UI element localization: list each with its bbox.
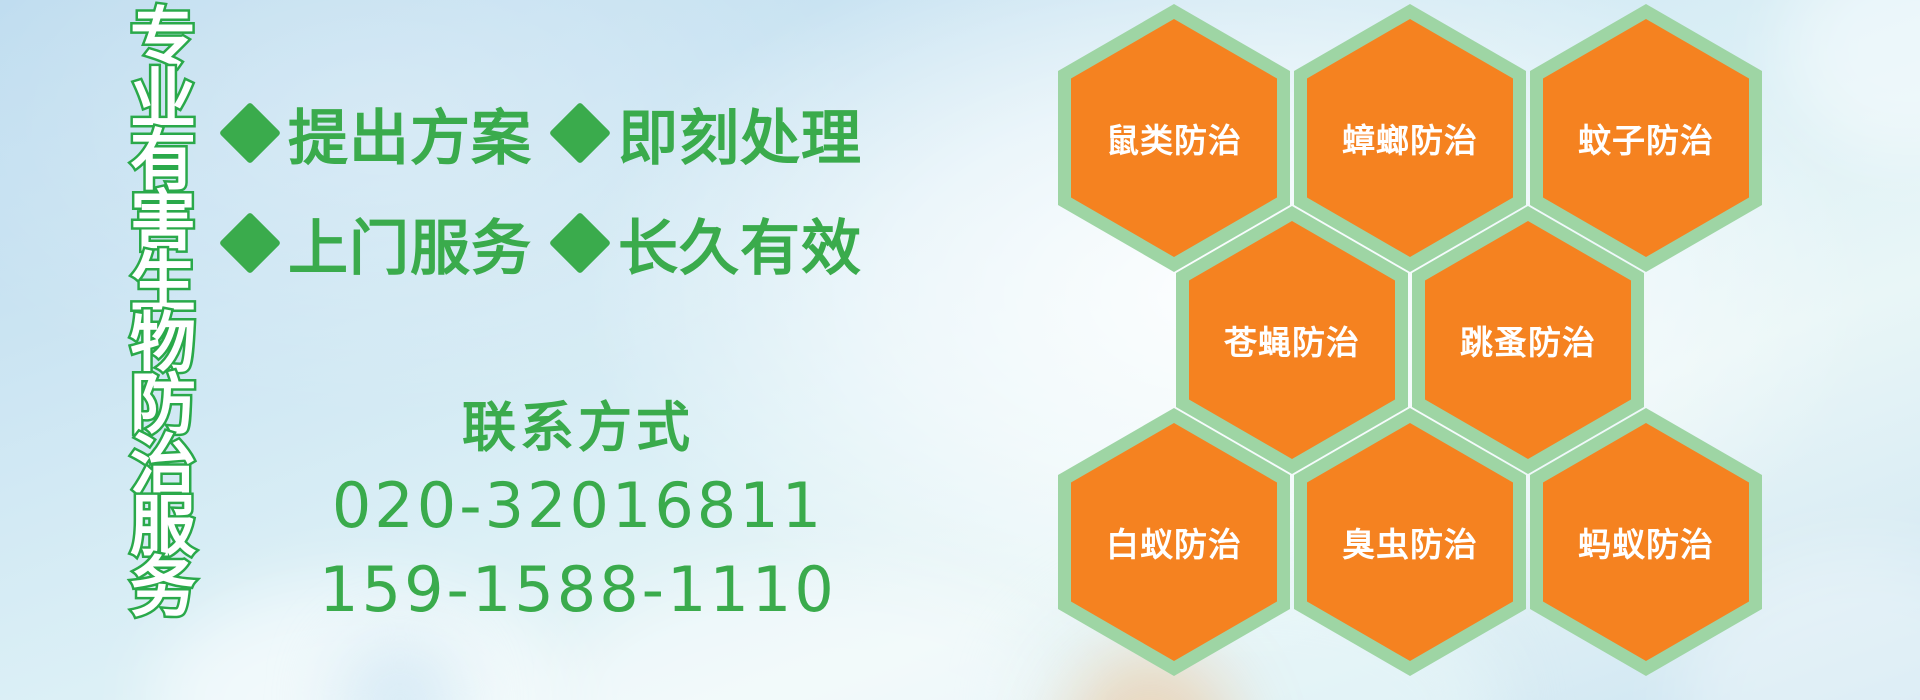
background-blur-blob xyxy=(340,640,460,700)
feature-label: 长久有效 xyxy=(618,200,862,287)
hex-inner: 苍蝇防治 xyxy=(1189,221,1395,459)
contact-block: 联系方式 020-32016811 159-1588-1110 xyxy=(228,392,928,632)
feature-label: 即刻处理 xyxy=(618,90,862,177)
diamond-icon xyxy=(549,102,611,164)
hex-inner: 白蚁防治 xyxy=(1071,423,1277,661)
feature-item-immediate-handling: 即刻处理 xyxy=(558,90,862,177)
vertical-headline-char: 有 xyxy=(130,130,196,191)
service-honeycomb: 鼠类防治 蟑螂防治 蚊子防治 苍蝇防治 跳蚤防治 白蚁防治 xyxy=(1058,4,1798,676)
diamond-icon xyxy=(219,102,281,164)
contact-phone-landline[interactable]: 020-32016811 xyxy=(228,464,928,548)
service-label: 蚊子防治 xyxy=(1578,114,1714,162)
contact-title: 联系方式 xyxy=(228,392,928,464)
pest-control-banner: 专 业 有 害 生 物 防 治 服 务 提出方案 即刻处理 上门服务 xyxy=(0,0,1920,700)
feature-label: 提出方案 xyxy=(288,90,532,177)
service-label: 跳蚤防治 xyxy=(1460,316,1596,364)
hex-inner: 跳蚤防治 xyxy=(1425,221,1631,459)
feature-label: 上门服务 xyxy=(288,200,532,287)
service-label: 臭虫防治 xyxy=(1342,518,1478,566)
feature-item-propose-plan: 提出方案 xyxy=(228,90,532,177)
feature-row: 提出方案 即刻处理 xyxy=(228,78,868,188)
service-label: 蚂蚁防治 xyxy=(1578,518,1714,566)
vertical-headline-char: 服 xyxy=(130,496,196,557)
vertical-headline-char: 物 xyxy=(130,313,196,374)
feature-item-long-lasting-effect: 长久有效 xyxy=(558,200,862,287)
feature-row: 上门服务 长久有效 xyxy=(228,188,868,298)
hex-inner: 臭虫防治 xyxy=(1307,423,1513,661)
diamond-icon xyxy=(219,212,281,274)
vertical-headline-char: 业 xyxy=(130,69,196,130)
vertical-headline-char: 生 xyxy=(130,252,196,313)
hex-inner: 蚊子防治 xyxy=(1543,19,1749,257)
feature-item-door-to-door-service: 上门服务 xyxy=(228,200,532,287)
hex-inner: 蚂蚁防治 xyxy=(1543,423,1749,661)
service-label: 鼠类防治 xyxy=(1106,114,1242,162)
hex-inner: 蟑螂防治 xyxy=(1307,19,1513,257)
service-label: 苍蝇防治 xyxy=(1224,316,1360,364)
hex-inner: 鼠类防治 xyxy=(1071,19,1277,257)
vertical-headline-char: 务 xyxy=(130,557,196,618)
vertical-headline-char: 防 xyxy=(130,374,196,435)
vertical-headline-char: 治 xyxy=(130,435,196,496)
service-label: 白蚁防治 xyxy=(1106,518,1242,566)
vertical-headline-char: 专 xyxy=(130,8,196,69)
contact-phone-mobile[interactable]: 159-1588-1110 xyxy=(228,548,928,632)
vertical-headline: 专 业 有 害 生 物 防 治 服 务 xyxy=(108,8,218,556)
service-label: 蟑螂防治 xyxy=(1342,114,1478,162)
vertical-headline-char: 害 xyxy=(130,191,196,252)
background-blur-blob xyxy=(1780,0,1920,160)
feature-list: 提出方案 即刻处理 上门服务 长久有效 xyxy=(228,78,868,298)
diamond-icon xyxy=(549,212,611,274)
